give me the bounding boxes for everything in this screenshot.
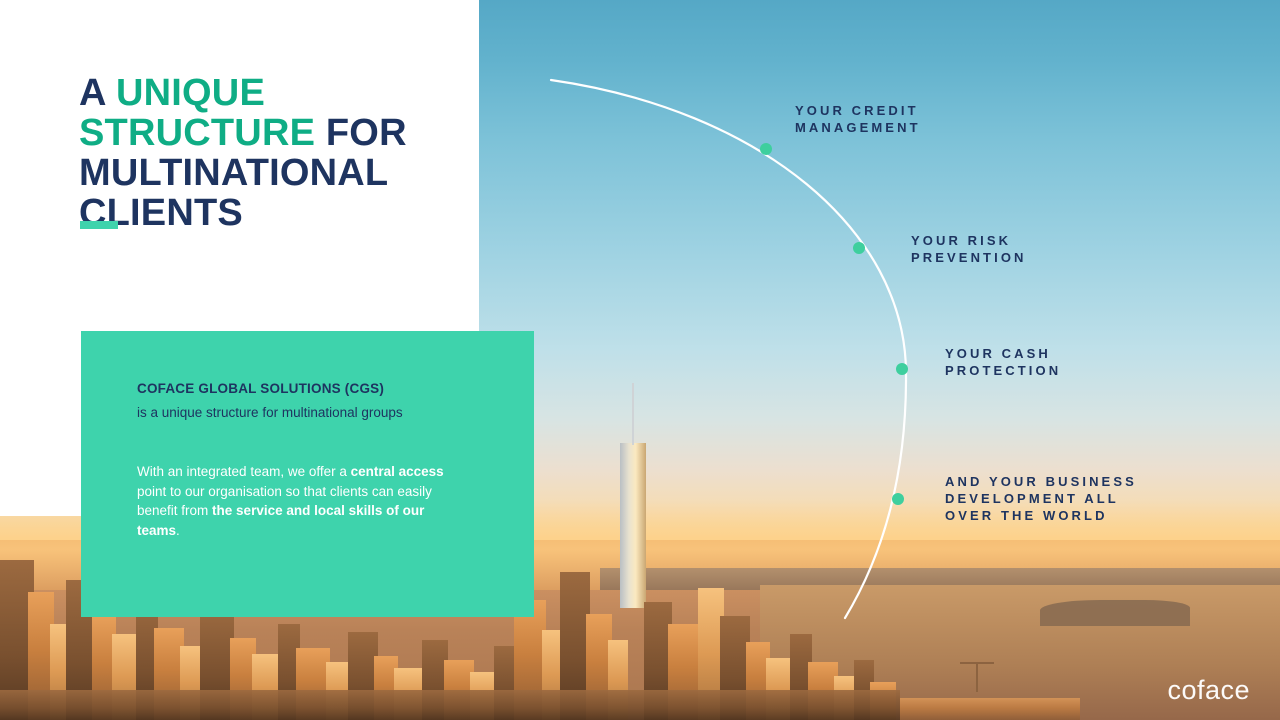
title-line2-plain: FOR <box>315 112 407 154</box>
node-label-credit-management: YOUR CREDIT MANAGEMENT <box>795 102 921 136</box>
cgs-body-text: . <box>176 523 180 538</box>
node-label-risk-prevention: YOUR RISK PREVENTION <box>911 232 1027 266</box>
cgs-description-box: COFACE GLOBAL SOLUTIONS (CGS) is a uniqu… <box>81 331 534 617</box>
title-accent-bar <box>80 221 118 229</box>
cgs-body-paragraph: With an integrated team, we offer a cent… <box>137 462 467 540</box>
node-label-cash-protection: YOUR CASH PROTECTION <box>945 345 1061 379</box>
title-line2-accent: STRUCTURE <box>79 112 315 154</box>
coface-logo: coface <box>1167 675 1250 706</box>
page-title: A UNIQUESTRUCTURE FORMULTINATIONALCLIENT… <box>79 73 479 233</box>
cgs-lead-strong: COFACE GLOBAL SOLUTIONS (CGS) <box>137 379 467 399</box>
cgs-body-emphasis: central access <box>351 464 444 479</box>
title-line1-accent: UNIQUE <box>116 72 265 114</box>
cgs-lead-rest: is a unique structure for multinational … <box>137 402 467 424</box>
one-world-trade-center <box>620 443 646 608</box>
title-line1-plain: A <box>79 72 116 114</box>
node-label-business-development: AND YOUR BUSINESS DEVELOPMENT ALL OVER T… <box>945 473 1137 524</box>
title-line3: MULTINATIONAL <box>79 152 388 194</box>
cgs-body-text: With an integrated team, we offer a <box>137 464 351 479</box>
slide-canvas: A UNIQUESTRUCTURE FORMULTINATIONALCLIENT… <box>0 0 1280 720</box>
cgs-description-inner: COFACE GLOBAL SOLUTIONS (CGS) is a uniqu… <box>137 379 467 540</box>
wtc-spire <box>632 383 634 445</box>
